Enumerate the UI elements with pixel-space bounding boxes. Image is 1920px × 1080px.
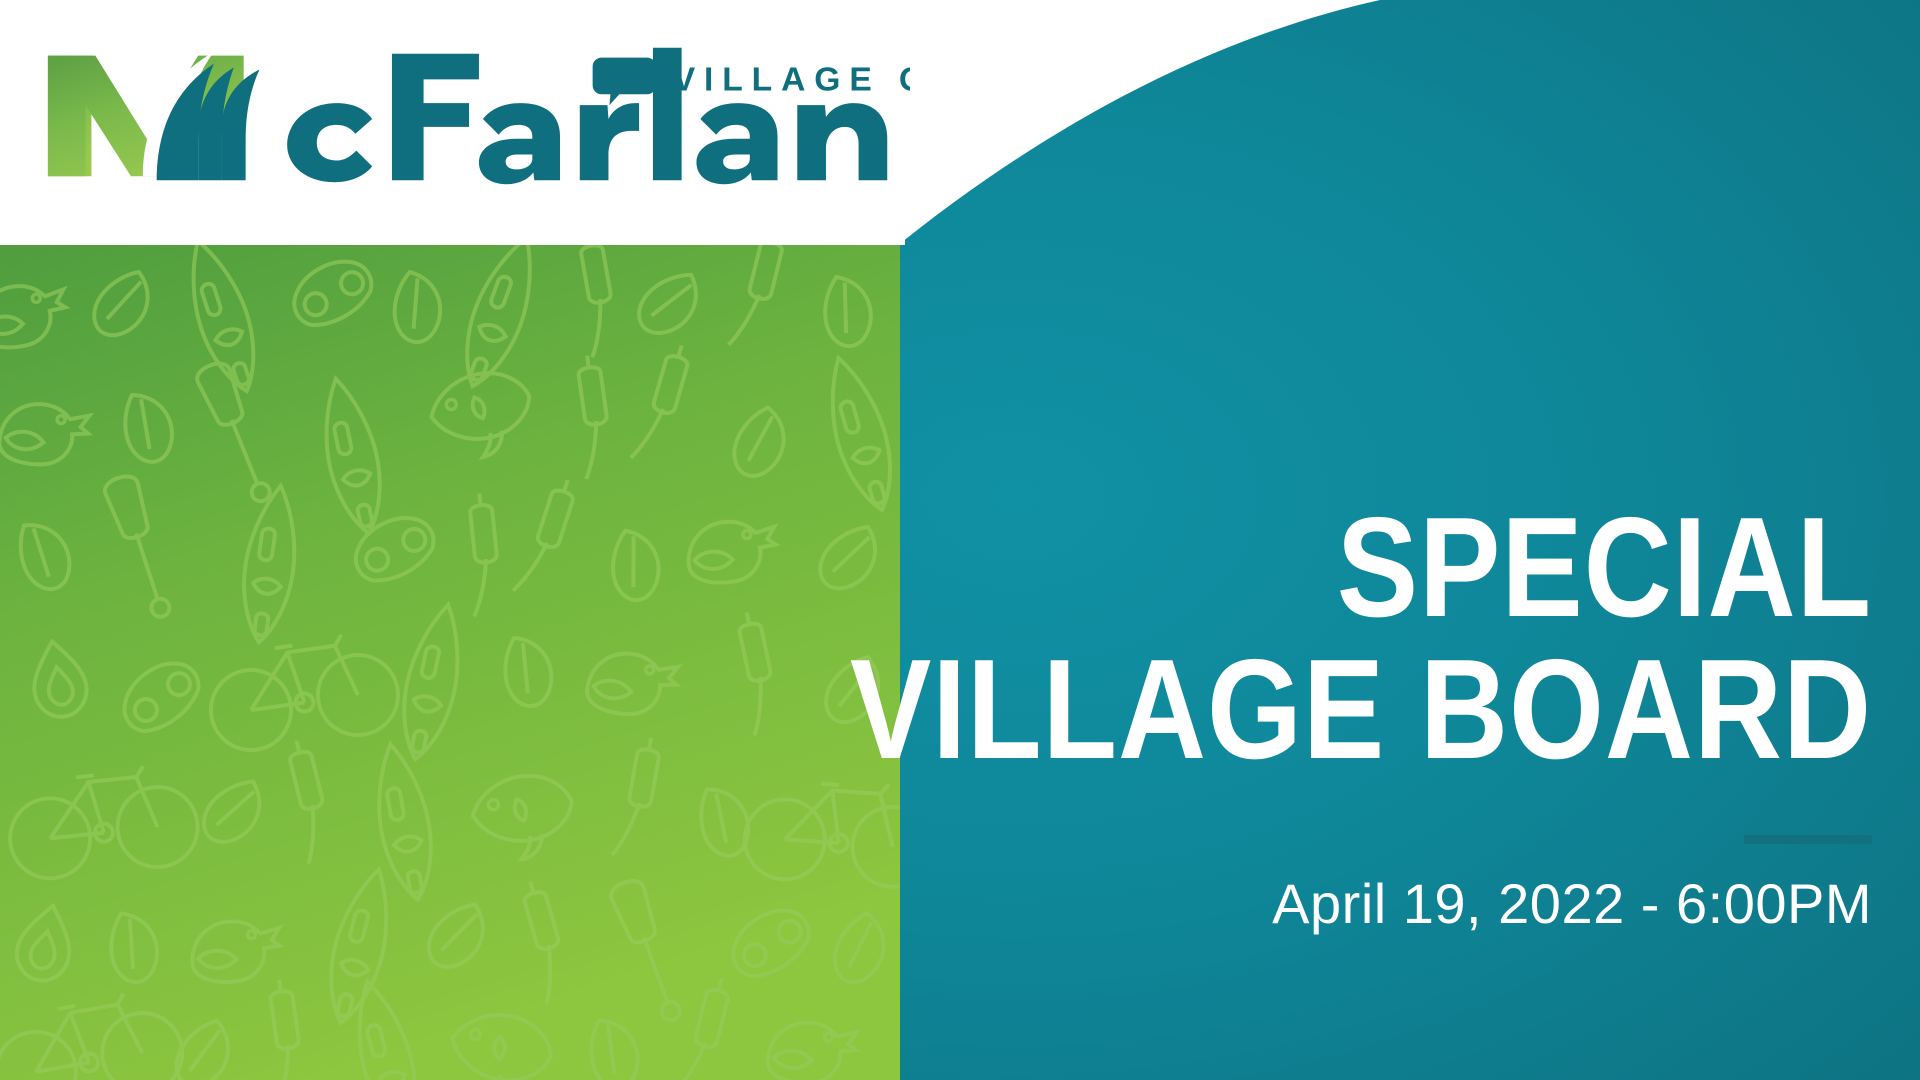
logo-eyebrow-text: VILLAGE OF (673, 61, 910, 98)
banner-canvas: VILLAGE OF SPECIAL VILLAGE BOARD April 1… (0, 0, 1920, 1080)
logo-eyebrow: VILLAGE OF (593, 58, 910, 105)
headline-line-2: VILLAGE BOARD (754, 642, 1872, 778)
headline-block: SPECIAL VILLAGE BOARD April 19, 2022 - 6… (572, 500, 1872, 936)
divider-rule (1744, 835, 1872, 844)
logo-bar: VILLAGE OF (0, 0, 905, 245)
village-logo[interactable]: VILLAGE OF (40, 28, 910, 208)
headline-line-1: SPECIAL (754, 500, 1872, 636)
speech-bubble-icon (593, 58, 656, 105)
meeting-date-time: April 19, 2022 - 6:00PM (572, 871, 1872, 936)
